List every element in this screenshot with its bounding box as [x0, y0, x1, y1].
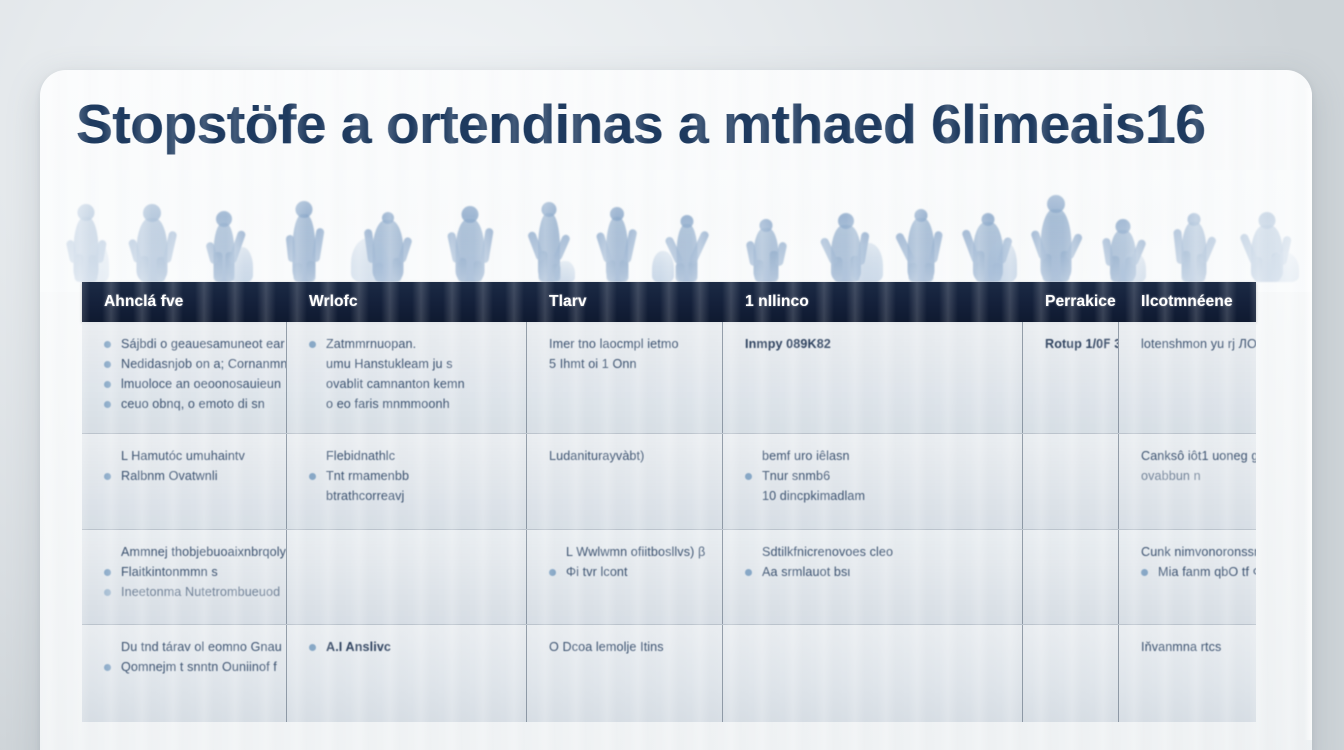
table-row[interactable]: L Hamutóc umuhaintvRalbnm OvatwnliFlebid…	[82, 434, 1256, 530]
cell-text-line: L Hamutóc umuhaintv	[104, 448, 270, 465]
table-header-row: Ahnclá fveWrlofcTlarv1 nIlincoPerrakiceI…	[82, 282, 1256, 322]
cell-bullet-item: Φi tvr lcont	[549, 564, 706, 581]
table-column-header-5[interactable]: Perrakice	[1023, 282, 1119, 322]
cell-text-line: Iňvanmna rtcs	[1141, 639, 1240, 656]
equipment-prop-icon	[555, 261, 575, 282]
table-row[interactable]: Ammnej thobjebuoaixnbrqolyFlaitkintonmmn…	[82, 530, 1256, 625]
cell-bullet-item: ceuo obnq, o emoto di sn	[104, 396, 270, 413]
table-cell	[1023, 530, 1119, 624]
equipment-prop-icon	[652, 251, 674, 282]
cell-text-line: o eo faris mnmmoonh	[309, 396, 510, 413]
table-column-header-1[interactable]: Ahnclá fve	[82, 282, 287, 322]
cell-text-line: Imer tno laocmpl ietmo	[549, 336, 706, 353]
cell-bullet-item: Tnt rmamenbb	[309, 468, 510, 485]
table-cell	[723, 625, 1023, 722]
table-cell: bemf uro iêlasnTnur snmb610 dincpkimadla…	[723, 434, 1023, 529]
table-cell: Inmpy 089K82	[723, 322, 1023, 433]
cell-bullet-item: Zatmmrnuopan.	[309, 336, 510, 353]
cell-text-line: 5 Ihmt oi 1 Onn	[549, 356, 706, 373]
table-cell: FlebidnathlcTnt rmamenbbbtrathcorreavj	[287, 434, 527, 529]
cell-text-line: Du tnd tárav ol eomno Gnau	[104, 639, 270, 656]
cell-text-line: Ludaniturayvàbt)	[549, 448, 706, 465]
table-cell: Cunk nimvonoronssnve d9Ot1 5 t OMia fanm…	[1119, 530, 1256, 624]
cell-bullet-item: lmuoloce an oeoonosauieun	[104, 376, 270, 393]
equipment-prop-icon	[351, 238, 388, 282]
cell-text-line: btrathcorreavj	[309, 488, 510, 505]
cell-bullet-item: Nedidasnjob on a; Cornanmnij y	[104, 356, 270, 373]
table-cell: A.I Anslivc	[287, 625, 527, 722]
table-cell: Du tnd tárav ol eomno GnauQomnejm t snnt…	[82, 625, 287, 722]
infographic-card: Stopstöfe a ortendinas a mthaed 6limeais…	[40, 70, 1312, 750]
cell-text-line: bemf uro iêlasn	[745, 448, 1006, 465]
person-silhouette-icon	[1030, 174, 1083, 282]
silhouette-illustration-band	[64, 174, 1290, 282]
person-silhouette-icon	[271, 174, 337, 282]
table-row[interactable]: Du tnd tárav ol eomno GnauQomnejm t snnt…	[82, 625, 1256, 722]
cell-bullet-item: Aa srmlauot bsι	[745, 564, 1006, 581]
cell-text-line: 10 dincpkimadlam	[745, 488, 1006, 505]
table-cell: L Hamutóc umuhaintvRalbnm Ovatwnli	[82, 434, 287, 529]
person-silhouette-icon	[64, 174, 108, 282]
table-cell: L Wwlwmn ofiitbosllvs) βΦi tvr lcont	[527, 530, 723, 624]
cell-bullet-item: Qomnejm t snntn Ouniinof f	[104, 659, 270, 676]
cell-bullet-item: A.I Anslivc	[309, 639, 510, 656]
table-column-header-4[interactable]: 1 nIlinco	[723, 282, 1023, 322]
equipment-prop-icon	[1268, 252, 1299, 282]
cell-text-line: Rotup 1/0𝖥 3 0	[1045, 336, 1102, 353]
cell-bullet-item: Tnur snmb6	[745, 468, 1006, 485]
person-silhouette-icon	[735, 174, 797, 282]
table-body: Sájbdi o geauesamuneot ear ejNedidasnjob…	[82, 322, 1256, 722]
person-silhouette-icon	[817, 174, 875, 282]
equipment-prop-icon	[1121, 252, 1146, 282]
cell-text-line: Inmpy 089K82	[745, 336, 1006, 353]
person-silhouette-icon	[1102, 174, 1143, 282]
page-title: Stopstöfe a ortendinas a mthaed 6limeais…	[76, 92, 1276, 156]
table-column-header-3[interactable]: Tlarv	[527, 282, 723, 322]
person-silhouette-icon	[895, 174, 947, 282]
cell-text-line: Sdtilkfnicrenovoes cleo	[745, 544, 1006, 561]
equipment-prop-icon	[86, 242, 109, 282]
equipment-prop-icon	[853, 243, 883, 282]
person-silhouette-icon	[522, 174, 577, 282]
cell-text-line: ovablit camnanton kemn	[309, 376, 510, 393]
person-silhouette-icon	[357, 174, 418, 282]
cell-text-line: ovabbun n	[1141, 468, 1240, 485]
cell-text-line: Cunk nimvonoronssnve d9Ot1 5 t O	[1141, 544, 1240, 561]
cell-text-line: L Wwlwmn ofiitbosllvs) β	[549, 544, 706, 561]
table-cell	[1023, 434, 1119, 529]
table-column-header-6[interactable]: Ilcotmnéene	[1119, 282, 1256, 322]
table-cell: Iňvanmna rtcs	[1119, 625, 1256, 722]
page-right-edge	[1304, 88, 1312, 740]
cell-bullet-item: Ralbnm Ovatwnli	[104, 468, 270, 485]
cell-text-line: Canksô iôt1 uoneg gcoeuonti	[1141, 448, 1240, 465]
person-silhouette-icon	[1244, 174, 1290, 282]
table-cell	[1023, 625, 1119, 722]
equipment-prop-icon	[230, 247, 253, 282]
table-cell: Rotup 1/0𝖥 3 0	[1023, 322, 1119, 433]
table-cell: O Dcoa lemolje Itins	[527, 625, 723, 722]
table-cell: Sájbdi o geauesamuneot ear ejNedidasnjob…	[82, 322, 287, 433]
person-silhouette-icon	[967, 174, 1010, 282]
cell-text-line: lotenshmon yu rj ЛO 1 26	[1141, 336, 1240, 353]
table-cell: Canksô iôt1 uoneg gcoeuontiovabbun n	[1119, 434, 1256, 529]
table-cell	[287, 530, 527, 624]
person-silhouette-icon	[438, 174, 502, 282]
table-row[interactable]: Sájbdi o geauesamuneot ear ejNedidasnjob…	[82, 322, 1256, 434]
table-column-header-2[interactable]: Wrlofc	[287, 282, 527, 322]
table-cell: Imer tno laocmpl ietmo5 Ihmt oi 1 Onn	[527, 322, 723, 433]
table-cell: Ludaniturayvàbt)	[527, 434, 723, 529]
table-cell: Sdtilkfnicrenovoes cleoAa srmlauot bsι	[723, 530, 1023, 624]
person-silhouette-icon	[597, 174, 638, 282]
equipment-prop-icon	[988, 240, 1017, 282]
table-cell: lotenshmon yu rj ЛO 1 26	[1119, 322, 1256, 433]
cell-text-line: O Dcoa lemolje Itins	[549, 639, 706, 656]
cell-text-line: Ammnej thobjebuoaixnbrqoly	[104, 544, 270, 561]
person-silhouette-icon	[658, 174, 716, 282]
cell-text-line: umu Hanstukleam ju s	[309, 356, 510, 373]
cell-bullet-item: Flaitkintonmmn s	[104, 564, 270, 581]
cell-bullet-item: Mia fanm qbO tf Φo	[1141, 564, 1240, 581]
person-silhouette-icon	[128, 174, 177, 282]
cell-bullet-item: Sájbdi o geauesamuneot ear ej	[104, 336, 270, 353]
person-silhouette-icon	[197, 174, 252, 282]
table-cell: Ammnej thobjebuoaixnbrqolyFlaitkintonmmn…	[82, 530, 287, 624]
table-cell: Zatmmrnuopan.umu Hanstukleam ju sovablit…	[287, 322, 527, 433]
cell-bullet-item: Ineetonma Nutetrombueuod	[104, 584, 270, 601]
cell-text-line: Flebidnathlc	[309, 448, 510, 465]
person-silhouette-icon	[1163, 174, 1224, 282]
comparison-table: Ahnclá fveWrlofcTlarv1 nIlincoPerrakiceI…	[82, 282, 1256, 727]
